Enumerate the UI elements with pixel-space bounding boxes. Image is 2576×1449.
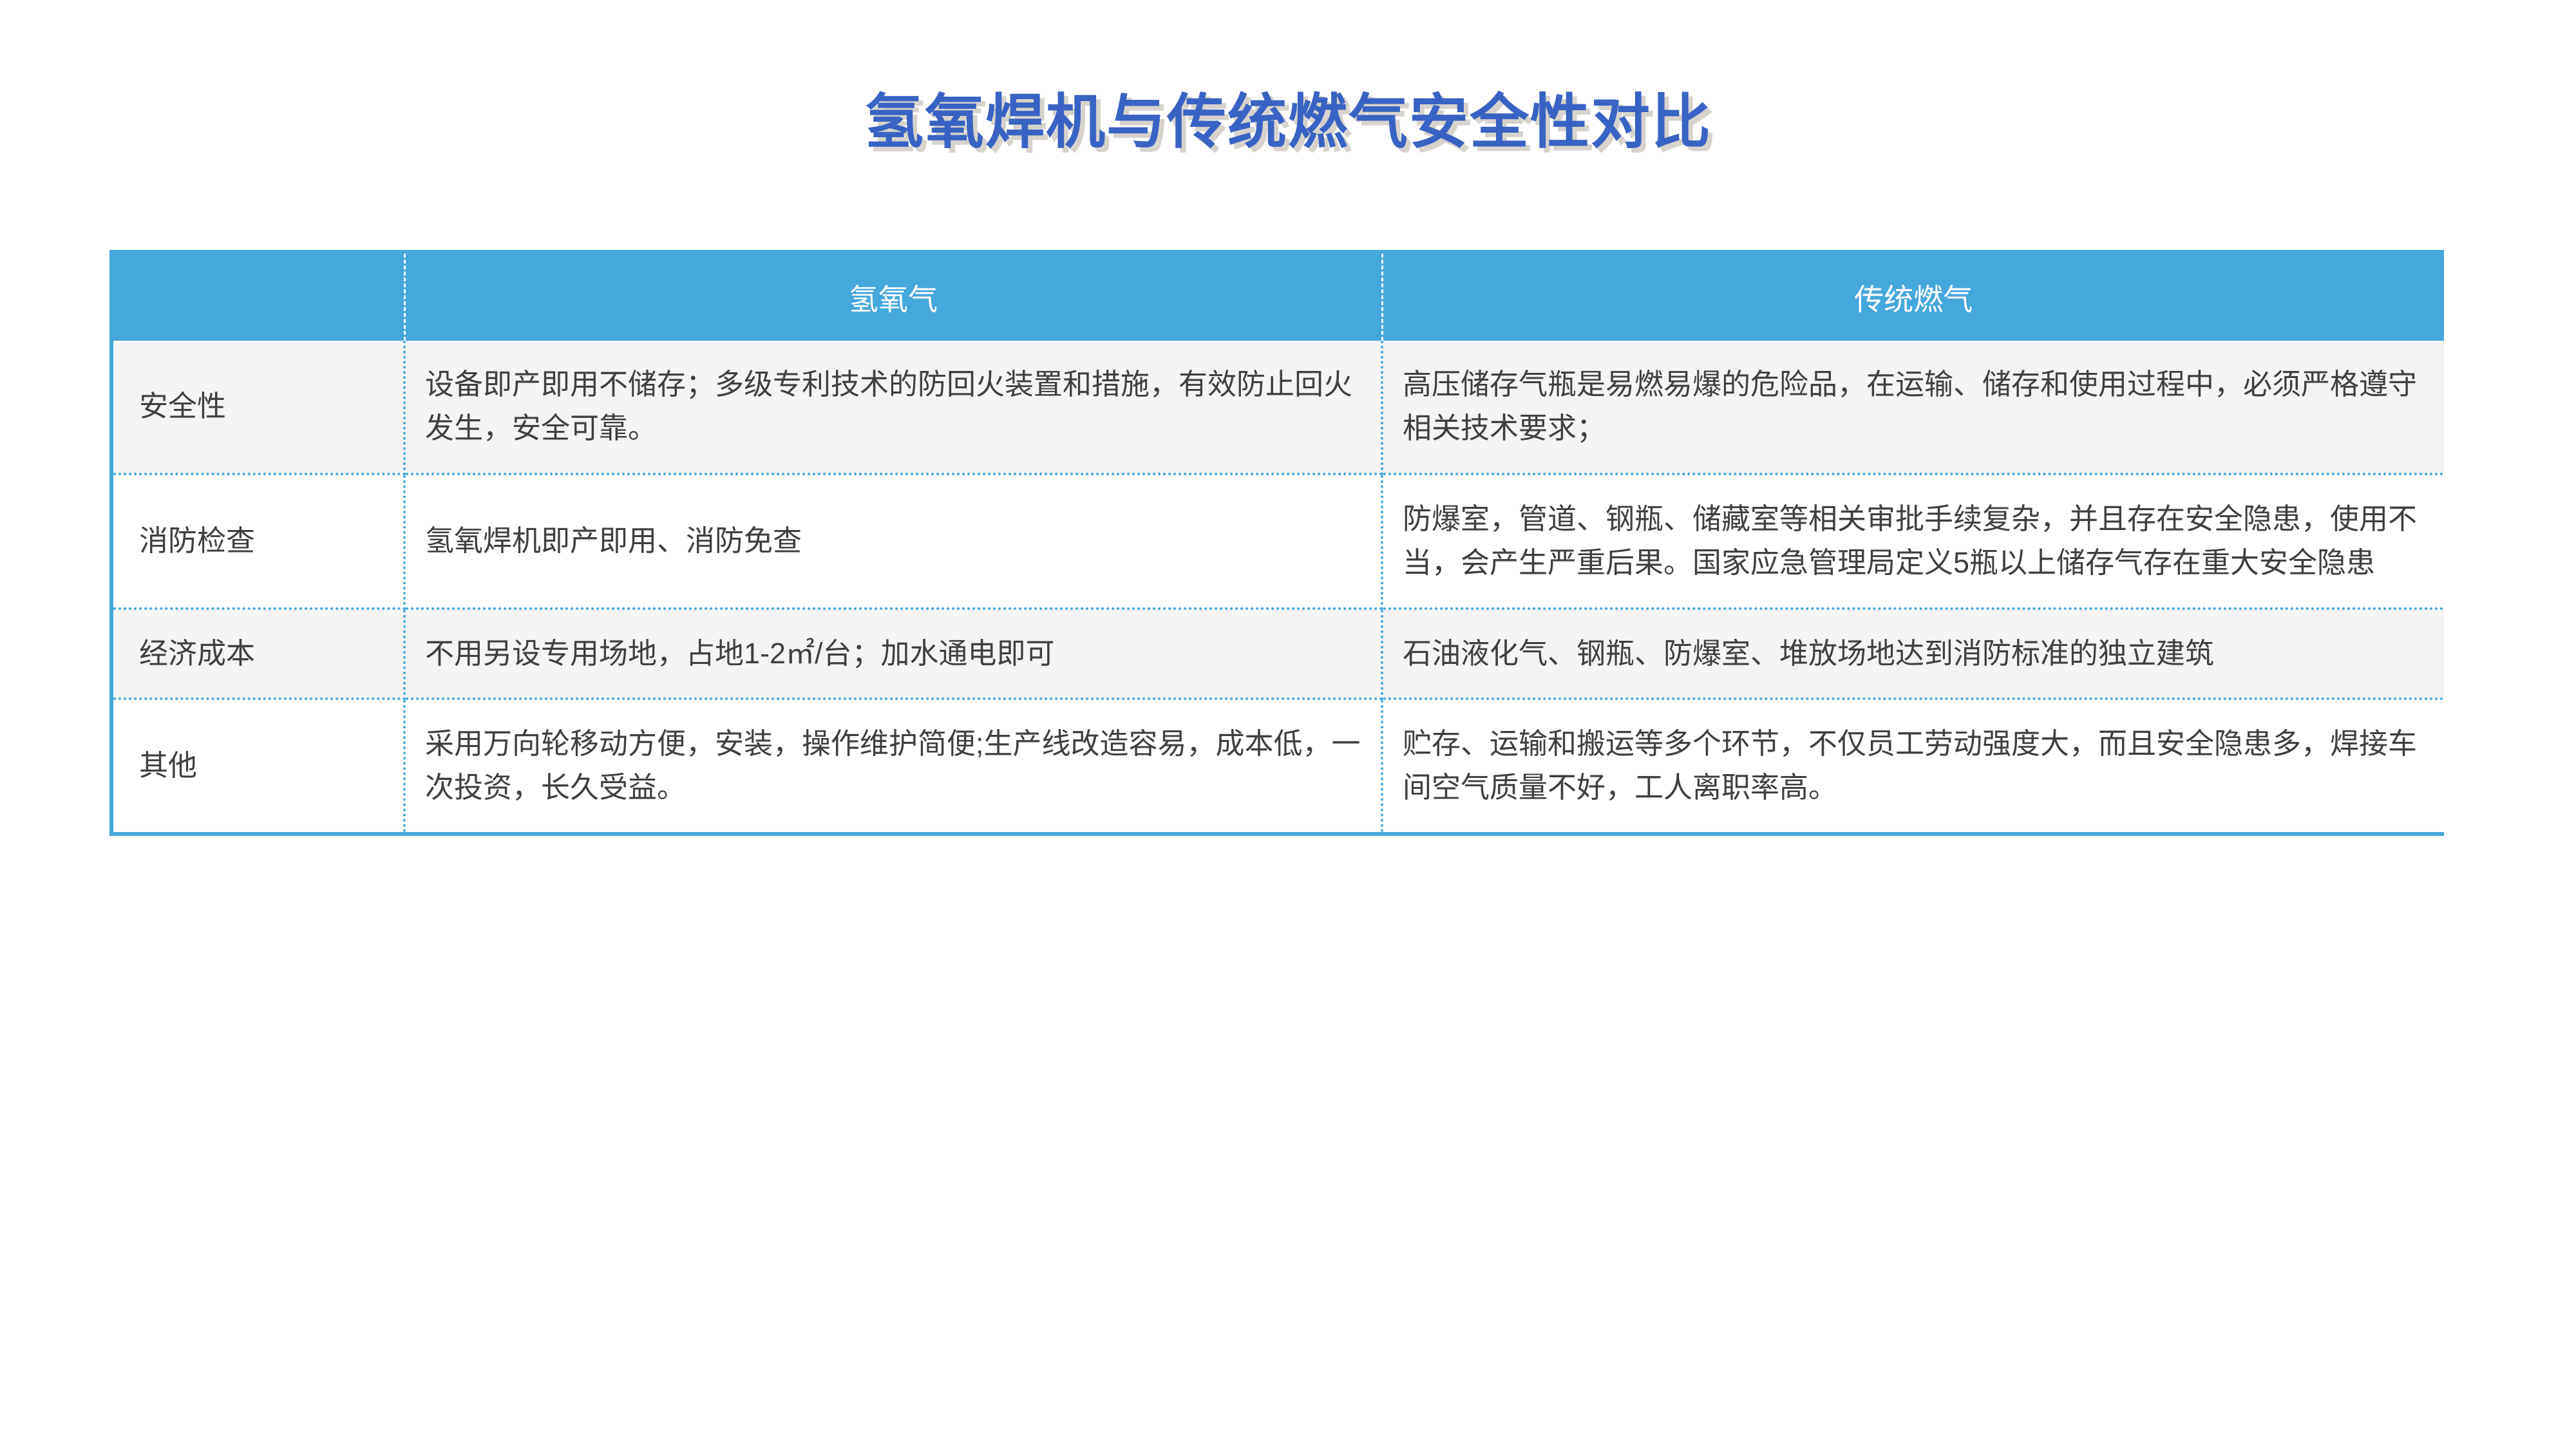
cell-traditional-safety: 高压储存气瓶是易燃易爆的危险品，在运输、储存和使用过程中，必须严格遵守相关技术要… (1382, 341, 2444, 474)
row-label-other: 其他 (113, 699, 404, 832)
table-row: 经济成本 不用另设专用场地，占地1-2㎡/台；加水通电即可 石油液化气、钢瓶、防… (113, 609, 2444, 699)
comparison-table: 氢氧气 传统燃气 安全性 设备即产即用不储存；多级专利技术的防回火装置和措施，有… (113, 254, 2444, 832)
header-cell-traditional: 传统燃气 (1382, 254, 2444, 341)
table-body: 安全性 设备即产即用不储存；多级专利技术的防回火装置和措施，有效防止回火发生，安… (113, 341, 2444, 832)
table-header-row: 氢氧气 传统燃气 (113, 254, 2444, 341)
table-row: 消防检查 氢氧焊机即产即用、消防免查 防爆室，管道、钢瓶、储藏室等相关审批手续复… (113, 474, 2444, 609)
comparison-table-container: 氢氧气 传统燃气 安全性 设备即产即用不储存；多级专利技术的防回火装置和措施，有… (109, 250, 2444, 836)
slide-page: 氢氧焊机与传统燃气安全性对比 氢氧气 传统燃气 安全性 设备即产即用不储存；多级… (0, 0, 2576, 1449)
cell-hho-safety: 设备即产即用不储存；多级专利技术的防回火装置和措施，有效防止回火发生，安全可靠。 (404, 341, 1382, 474)
table-row: 其他 采用万向轮移动方便，安装，操作维护简便;生产线改造容易，成本低，一次投资，… (113, 699, 2444, 832)
cell-hho-fire-inspection: 氢氧焊机即产即用、消防免查 (404, 474, 1382, 609)
header-cell-category (113, 254, 404, 341)
cell-traditional-economic-cost: 石油液化气、钢瓶、防爆室、堆放场地达到消防标准的独立建筑 (1382, 609, 2444, 699)
cell-hho-other: 采用万向轮移动方便，安装，操作维护简便;生产线改造容易，成本低，一次投资，长久受… (404, 699, 1382, 832)
cell-hho-economic-cost: 不用另设专用场地，占地1-2㎡/台；加水通电即可 (404, 609, 1382, 699)
row-label-safety: 安全性 (113, 341, 404, 474)
cell-traditional-other: 贮存、运输和搬运等多个环节，不仅员工劳动强度大，而且安全隐患多，焊接车间空气质量… (1382, 699, 2444, 832)
cell-traditional-fire-inspection: 防爆室，管道、钢瓶、储藏室等相关审批手续复杂，并且存在安全隐患，使用不当，会产生… (1382, 474, 2444, 609)
table-row: 安全性 设备即产即用不储存；多级专利技术的防回火装置和措施，有效防止回火发生，安… (113, 341, 2444, 474)
page-title-container: 氢氧焊机与传统燃气安全性对比 (0, 90, 2576, 155)
table-header: 氢氧气 传统燃气 (113, 254, 2444, 341)
header-cell-hho: 氢氧气 (404, 254, 1382, 341)
page-title: 氢氧焊机与传统燃气安全性对比 (864, 90, 1712, 155)
row-label-fire-inspection: 消防检查 (113, 474, 404, 609)
row-label-economic-cost: 经济成本 (113, 609, 404, 699)
